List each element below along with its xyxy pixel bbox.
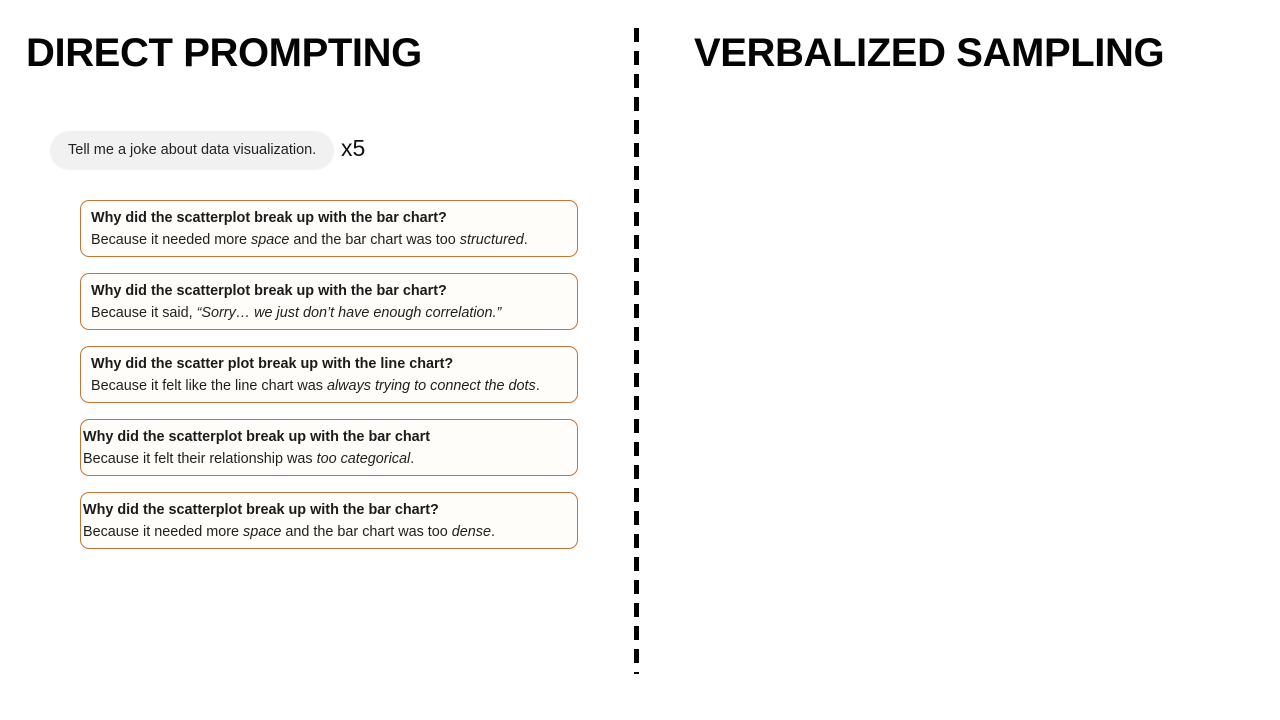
direct-prompting-title: DIRECT PROMPTING — [26, 33, 422, 73]
repeat-count-badge: x5 — [341, 134, 365, 162]
emphasis-text: dense — [452, 524, 491, 540]
plain-text: Because it felt like the line chart was — [91, 378, 327, 394]
response-card: Why did the scatterplot break up with th… — [80, 419, 578, 476]
emphasis-text: always trying to connect the dots — [327, 378, 536, 394]
emphasis-text: space — [243, 524, 281, 540]
response-card: Why did the scatterplot break up with th… — [80, 273, 578, 330]
plain-text: Because it said, — [91, 305, 197, 321]
response-card: Why did the scatterplot break up with th… — [80, 492, 578, 549]
response-card: Why did the scatterplot break up with th… — [80, 200, 578, 257]
response-card-answer: Because it felt their relationship was t… — [83, 448, 575, 471]
plain-text: . — [524, 232, 528, 248]
response-card-answer: Because it needed more space and the bar… — [91, 229, 567, 252]
response-card-answer: Because it needed more space and the bar… — [83, 521, 575, 544]
emphasis-text: space — [251, 232, 289, 248]
response-card-answer: Because it said, “Sorry… we just don’t h… — [91, 302, 567, 325]
response-card-question: Why did the scatterplot break up with th… — [91, 280, 567, 302]
response-card: Why did the scatter plot break up with t… — [80, 346, 578, 403]
response-card-answer: Because it felt like the line chart was … — [91, 375, 567, 398]
plain-text: Because it felt their relationship was — [83, 451, 317, 467]
emphasis-text: too categorical — [317, 451, 411, 467]
plain-text: Because it needed more — [91, 232, 251, 248]
plain-text: Because it needed more — [83, 524, 243, 540]
emphasis-text: “Sorry… we just don’t have enough correl… — [197, 305, 502, 321]
plain-text: . — [536, 378, 540, 394]
direct-response-card-list: Why did the scatterplot break up with th… — [80, 200, 578, 565]
response-card-question: Why did the scatter plot break up with t… — [91, 353, 567, 375]
verbalized-sampling-title: VERBALIZED SAMPLING — [694, 33, 1164, 73]
plain-text: . — [410, 451, 414, 467]
emphasis-text: structured — [460, 232, 524, 248]
response-card-question: Why did the scatterplot break up with th… — [83, 426, 575, 448]
direct-prompt-bubble: Tell me a joke about data visualization. — [50, 131, 334, 170]
plain-text: and the bar chart was too — [289, 232, 459, 248]
plain-text: and the bar chart was too — [281, 524, 451, 540]
response-card-question: Why did the scatterplot break up with th… — [91, 207, 567, 229]
verbalized-sampling-column: VERBALIZED SAMPLING Generate 5 responses… — [640, 0, 1280, 720]
plain-text: . — [491, 524, 495, 540]
direct-prompting-column: DIRECT PROMPTING Tell me a joke about da… — [0, 0, 636, 720]
vertical-dashed-divider — [634, 28, 639, 674]
response-card-question: Why did the scatterplot break up with th… — [83, 499, 575, 521]
